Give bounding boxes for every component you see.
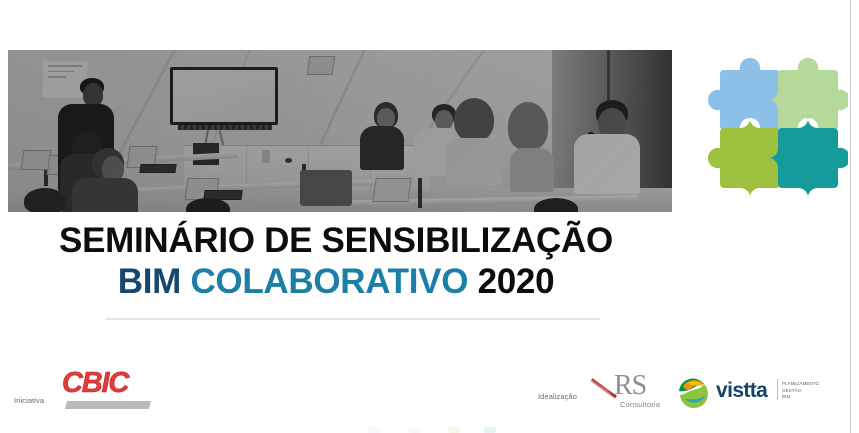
- vistta-tagline-line3: BIM: [782, 394, 819, 401]
- puzzle-piece-top-right: [766, 58, 848, 130]
- vistta-globe-icon: [676, 377, 712, 409]
- subtitle-word-year: 2020: [478, 262, 555, 301]
- photo-scene: [8, 50, 672, 212]
- page-subtitle: BIM COLABORATIVO 2020: [0, 262, 672, 301]
- cbic-logo: CBIC: [62, 369, 158, 415]
- vistta-logo: vistta PLANEJAMENTO GESTÃO BIM: [676, 373, 808, 413]
- rs-wordmark: RS: [614, 372, 646, 400]
- seminar-classroom-photo: [8, 50, 672, 212]
- presentation-slide: SEMINÁRIO DE SENSIBILIZAÇÃO BIM COLABORA…: [0, 0, 859, 433]
- cbic-underbar: [65, 401, 151, 409]
- photo-cool-overlay: [8, 50, 672, 212]
- vistta-tagline-line1: PLANEJAMENTO: [782, 381, 819, 388]
- subtitle-word-colaborativo: COLABORATIVO: [190, 262, 468, 301]
- page-title: SEMINÁRIO DE SENSIBILIZAÇÃO: [0, 222, 672, 259]
- right-edge-rule: [850, 0, 851, 433]
- vistta-wordmark: vistta: [716, 380, 767, 401]
- vistta-tagline: PLANEJAMENTO GESTÃO BIM: [782, 381, 819, 401]
- initiative-label: Iniciativa: [14, 396, 44, 405]
- vistta-separator: [777, 379, 778, 400]
- cbic-wordmark: CBIC: [62, 369, 158, 398]
- title-divider: [105, 318, 600, 320]
- bottom-ghost-marks: [368, 427, 496, 433]
- idealization-label: Idealização: [538, 392, 577, 401]
- title-block: SEMINÁRIO DE SENSIBILIZAÇÃO BIM COLABORA…: [0, 222, 672, 301]
- rs-consultoria-logo: RS Consultoria: [592, 372, 674, 416]
- rs-subtitle: Consultoria: [620, 400, 660, 409]
- four-piece-puzzle-logo: [696, 38, 848, 198]
- vistta-tagline-line2: GESTÃO: [782, 388, 819, 395]
- subtitle-word-bim: BIM: [118, 262, 181, 301]
